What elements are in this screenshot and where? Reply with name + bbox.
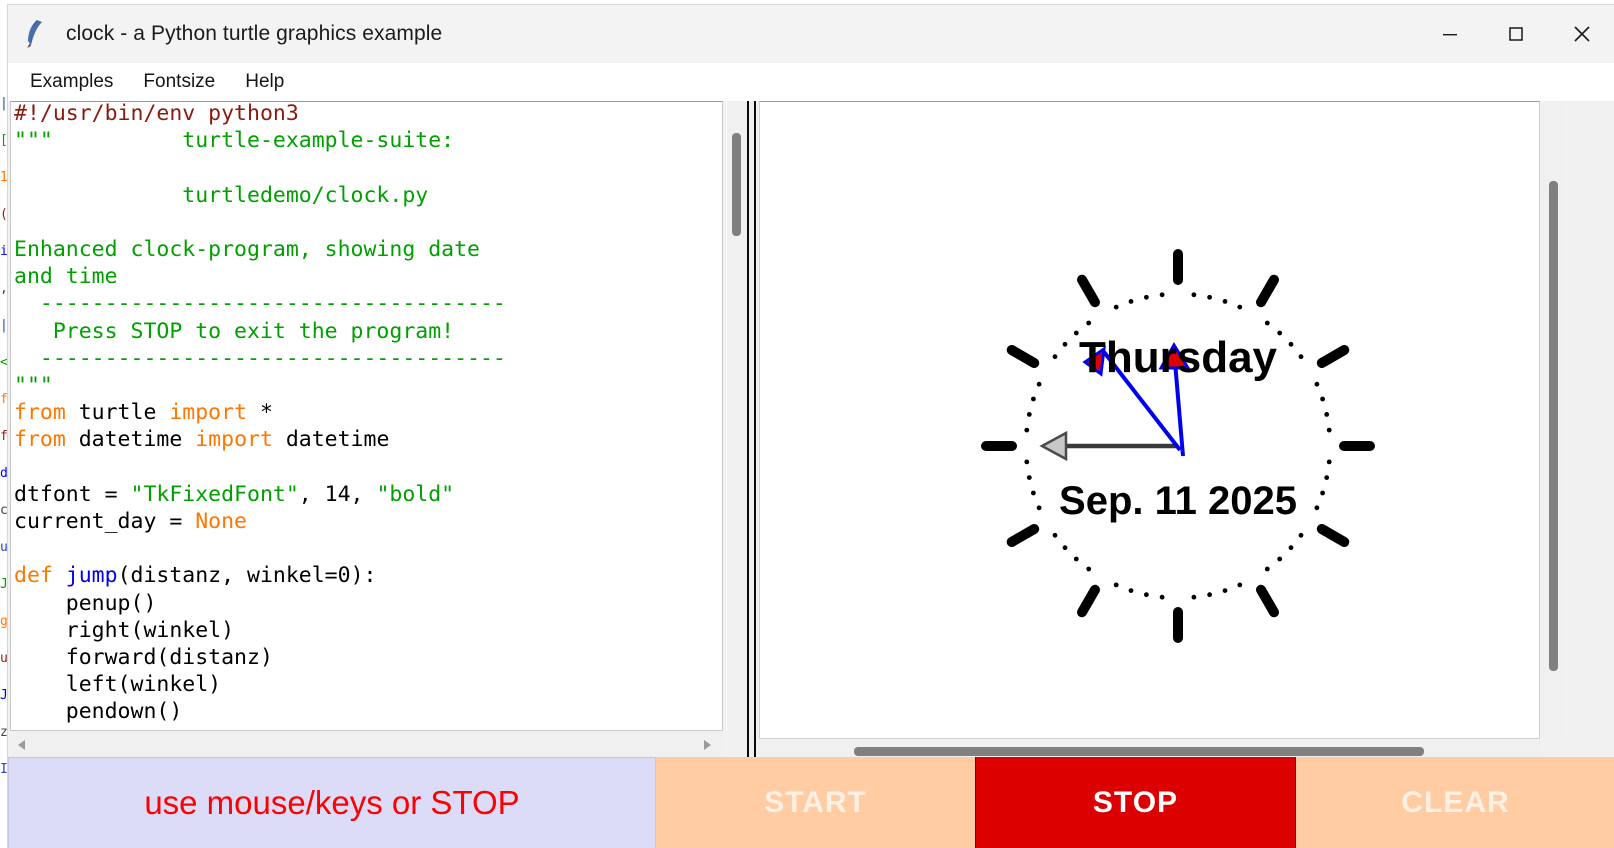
background-glyph: c (0, 503, 7, 518)
background-glyph: 1 (0, 170, 7, 185)
background-glyph: | (0, 96, 7, 111)
code-token: ------------------------------------ (14, 346, 506, 371)
triangle-right-icon[interactable] (700, 738, 714, 757)
content-area: #!/usr/bin/env python3 """ turtle-exampl… (8, 101, 1614, 757)
scrollbar-thumb[interactable] (1549, 181, 1558, 671)
code-token: """ turtle-example-suite: (14, 128, 454, 153)
python-feather-icon (22, 19, 48, 49)
minute-dot (1237, 583, 1242, 588)
source-horizontal-scrollbar[interactable] (10, 733, 723, 757)
hour-mark (1082, 280, 1095, 303)
minute-dot (1027, 412, 1032, 417)
second-hand (1042, 433, 1178, 459)
code-token: jump (66, 563, 118, 588)
code-token: , 14, (299, 482, 377, 507)
title-bar: clock - a Python turtle graphics example (8, 5, 1614, 63)
background-glyph: u (0, 651, 7, 666)
code-token: datetime (66, 427, 195, 452)
background-glyph: , (0, 281, 7, 296)
background-glyph: g (0, 614, 7, 629)
minute-dot (1114, 305, 1119, 310)
minimize-icon (1439, 23, 1461, 45)
minute-dot (1327, 460, 1332, 465)
minute-dot (1207, 295, 1212, 300)
code-token: Press STOP to exit the program! (14, 319, 454, 344)
status-text: use mouse/keys or STOP (144, 784, 519, 822)
canvas-vertical-scrollbar[interactable] (1543, 101, 1565, 739)
source-code-text: #!/usr/bin/env python3 """ turtle-exampl… (14, 101, 506, 726)
minute-dot (1037, 505, 1042, 510)
source-vertical-scrollbar[interactable] (726, 101, 746, 731)
hour-mark (1082, 590, 1095, 613)
clear-button[interactable]: CLEAR (1296, 757, 1614, 848)
background-glyph: | (0, 318, 7, 333)
minute-dot (1086, 321, 1091, 326)
minute-dot (1223, 588, 1228, 593)
minute-dot (1114, 583, 1119, 588)
maximize-icon (1505, 23, 1527, 45)
background-glyph: u (0, 540, 7, 555)
code-token: * (247, 400, 273, 425)
background-glyph: i (0, 244, 7, 259)
minute-dot (1074, 557, 1079, 562)
minute-dot (1299, 533, 1304, 538)
minute-dot (1289, 342, 1294, 347)
background-glyph: f (0, 392, 7, 407)
background-window-sliver: |[1(i,|<ffdcuJguJzI (0, 0, 7, 848)
code-token: forward(distanz) (14, 645, 273, 670)
minute-dot (1129, 588, 1134, 593)
code-token: import (195, 427, 273, 452)
code-token: """ (14, 373, 53, 398)
code-token: ------------------------------------ (14, 291, 506, 316)
code-token: "TkFixedFont" (131, 482, 299, 507)
turtle-canvas[interactable]: Thursday Sep. 11 2025 (759, 101, 1540, 739)
window-title: clock - a Python turtle graphics example (66, 22, 442, 46)
minute-dot (1053, 354, 1058, 359)
minute-dot (1324, 475, 1329, 480)
clock-weekday-label: Thursday (1079, 333, 1278, 382)
background-glyph: ( (0, 207, 7, 222)
code-token: left(winkel) (14, 672, 221, 697)
code-token: right(winkel) (14, 618, 234, 643)
minute-dot (1024, 460, 1029, 465)
scrollbar-thumb[interactable] (732, 133, 741, 236)
start-button[interactable]: START (656, 757, 975, 848)
code-token: penup() (14, 591, 156, 616)
menu-item-help[interactable]: Help (233, 69, 296, 95)
background-glyph: J (0, 688, 7, 703)
code-token (53, 563, 66, 588)
minute-dot (1265, 321, 1270, 326)
code-token: import (169, 400, 247, 425)
stop-button[interactable]: STOP (975, 757, 1296, 848)
code-token: (distanz, winkel=0): (118, 563, 377, 588)
bottom-bar: use mouse/keys or STOP START STOP CLEAR (8, 757, 1614, 848)
minute-dot (1031, 397, 1036, 402)
minute-dot (1192, 292, 1197, 297)
hour-mark (1322, 529, 1345, 542)
close-button[interactable] (1549, 5, 1614, 63)
minute-dot (1144, 295, 1149, 300)
minute-dot (1277, 331, 1282, 336)
minute-dot (1024, 428, 1029, 433)
minute-dot (1160, 595, 1165, 600)
background-glyph: d (0, 466, 7, 481)
clock-drawing: Thursday Sep. 11 2025 (760, 102, 1539, 738)
close-icon (1570, 22, 1594, 46)
code-token: "bold" (376, 482, 454, 507)
menu-item-examples[interactable]: Examples (18, 69, 125, 95)
minute-dot (1063, 342, 1068, 347)
application-window: clock - a Python turtle graphics example (7, 4, 1614, 848)
background-glyph: [ (0, 133, 7, 148)
minute-dot (1144, 592, 1149, 597)
minute-dot (1299, 354, 1304, 359)
code-token: Enhanced clock-program, showing date (14, 237, 480, 262)
minute-dot (1289, 545, 1294, 550)
minute-dot (1031, 491, 1036, 496)
maximize-button[interactable] (1483, 5, 1549, 63)
minute-dot (1237, 305, 1242, 310)
scrollbar-thumb[interactable] (854, 747, 1424, 756)
menu-bar: Examples Fontsize Help (8, 63, 1614, 101)
screen: |[1(i,|<ffdcuJguJzI clock - a Python tur… (0, 0, 1614, 848)
minute-dot (1277, 557, 1282, 562)
source-pane: #!/usr/bin/env python3 """ turtle-exampl… (8, 101, 746, 757)
minute-dot (1192, 595, 1197, 600)
background-glyph: f (0, 429, 7, 444)
status-bar: use mouse/keys or STOP (8, 757, 656, 848)
code-token: datetime (273, 427, 390, 452)
triangle-left-icon[interactable] (15, 738, 29, 757)
code-token: from (14, 400, 66, 425)
code-token: from (14, 427, 66, 452)
hour-mark (1012, 529, 1034, 542)
minute-dot (1027, 475, 1032, 480)
source-code-viewer[interactable]: #!/usr/bin/env python3 """ turtle-exampl… (10, 101, 723, 731)
minute-dot (1160, 292, 1165, 297)
hour-mark (1322, 350, 1345, 363)
minimize-button[interactable] (1417, 5, 1483, 63)
minute-dot (1315, 505, 1320, 510)
minute-dot (1265, 567, 1270, 572)
window-controls (1417, 5, 1614, 63)
minute-dot (1324, 412, 1329, 417)
menu-item-fontsize[interactable]: Fontsize (131, 69, 227, 95)
minute-dot (1074, 331, 1079, 336)
canvas-pane: Thursday Sep. 11 2025 (757, 101, 1614, 757)
hour-mark (1012, 350, 1034, 363)
code-token: pendown() (14, 699, 182, 724)
minute-dot (1037, 382, 1042, 387)
clock-date-label: Sep. 11 2025 (1059, 479, 1297, 523)
background-glyph: < (0, 355, 7, 370)
minute-dot (1086, 567, 1091, 572)
minute-dot (1063, 545, 1068, 550)
code-token: def (14, 563, 53, 588)
code-token: turtle (66, 400, 170, 425)
code-token: None (195, 509, 247, 534)
hour-mark (1261, 280, 1274, 303)
splitter-grip[interactable] (747, 101, 756, 760)
hour-mark (1261, 590, 1274, 613)
background-glyph: I (0, 762, 7, 777)
pane-splitter[interactable] (746, 101, 757, 760)
minute-dot (1129, 299, 1134, 304)
minute-dot (1223, 299, 1228, 304)
code-token: current_day = (14, 509, 195, 534)
minute-dot (1327, 428, 1332, 433)
code-token: and time (14, 264, 118, 289)
minute-dot (1053, 533, 1058, 538)
minute-dot (1207, 592, 1212, 597)
minute-dot (1320, 491, 1325, 496)
background-glyph: z (0, 725, 7, 740)
minute-dot (1320, 397, 1325, 402)
code-token: dtfont = (14, 482, 131, 507)
minute-dot (1315, 382, 1320, 387)
code-token: turtledemo/clock.py (14, 183, 428, 208)
code-token: #!/usr/bin/env python3 (14, 101, 299, 126)
background-glyph: J (0, 577, 7, 592)
